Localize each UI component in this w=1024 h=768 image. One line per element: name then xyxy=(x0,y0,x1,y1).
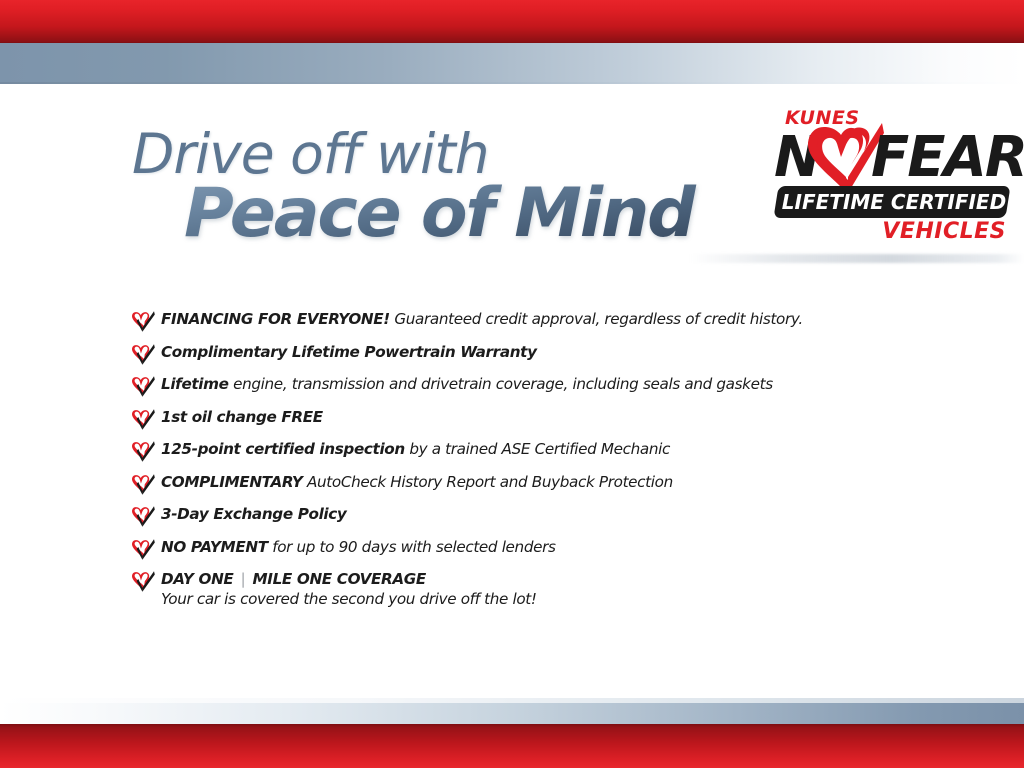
promo-poster: Drive off with Peace of Mind KUNES N FEA… xyxy=(0,0,1024,768)
header-divider xyxy=(690,254,1024,263)
feature-bold: Complimentary Lifetime Powertrain Warran… xyxy=(161,343,537,361)
feature-item: DAY ONE | MILE ONE COVERAGEYour car is c… xyxy=(132,570,932,610)
feature-item: 3-Day Exchange Policy xyxy=(132,505,932,527)
feature-text: COMPLIMENTARY AutoCheck History Report a… xyxy=(161,473,673,492)
logo-wordmark: N FEAR xyxy=(772,129,1012,191)
feature-bold-2: MILE ONE COVERAGE xyxy=(253,570,426,588)
feature-bold: 3-Day Exchange Policy xyxy=(161,505,346,523)
feature-item: FINANCING FOR EVERYONE! Guaranteed credi… xyxy=(132,310,932,332)
feature-text: 125-point certified inspection by a trai… xyxy=(161,440,670,459)
logo-certified-text: LIFETIME CERTIFIED xyxy=(780,189,1008,215)
feature-rest: for up to 90 days with selected lenders xyxy=(268,538,556,556)
feature-bold: Lifetime xyxy=(161,375,229,393)
top-red-band xyxy=(0,0,1024,43)
feature-list: FINANCING FOR EVERYONE! Guaranteed credi… xyxy=(132,310,932,621)
feature-text: 3-Day Exchange Policy xyxy=(161,505,346,524)
feature-text: Complimentary Lifetime Powertrain Warran… xyxy=(161,343,537,362)
feature-rest: Guaranteed credit approval, regardless o… xyxy=(390,310,803,328)
feature-subtext: Your car is covered the second you drive… xyxy=(161,589,537,610)
feature-bold: 1st oil change FREE xyxy=(161,408,323,426)
feature-bold: COMPLIMENTARY xyxy=(161,473,303,491)
bottom-red-band xyxy=(0,724,1024,768)
feature-bold: NO PAYMENT xyxy=(161,538,268,556)
feature-text: FINANCING FOR EVERYONE! Guaranteed credi… xyxy=(161,310,803,329)
feature-separator: | xyxy=(233,570,252,588)
heart-check-icon xyxy=(132,344,155,365)
heart-check-icon xyxy=(132,409,155,430)
heart-check-icon xyxy=(132,539,155,560)
heart-check-icon xyxy=(132,506,155,527)
kunes-no-fear-logo: KUNES N FEAR LIFETIME CERTIFIED VEHICLES xyxy=(772,107,1012,245)
heart-check-icon xyxy=(132,311,155,332)
top-gray-band xyxy=(0,43,1024,84)
feature-bold: 125-point certified inspection xyxy=(161,440,405,458)
heart-check-icon xyxy=(132,571,155,592)
logo-word-fear: FEAR xyxy=(871,129,1024,187)
heart-check-icon xyxy=(132,376,155,397)
feature-text: 1st oil change FREE xyxy=(161,408,323,427)
feature-bold: DAY ONE xyxy=(161,570,233,588)
feature-text: NO PAYMENT for up to 90 days with select… xyxy=(161,538,556,557)
heart-check-icon xyxy=(132,474,155,495)
feature-bold: FINANCING FOR EVERYONE! xyxy=(161,310,390,328)
heart-check-icon xyxy=(132,441,155,462)
feature-item: NO PAYMENT for up to 90 days with select… xyxy=(132,538,932,560)
top-gray-band-edge xyxy=(0,82,1024,84)
feature-item: 125-point certified inspection by a trai… xyxy=(132,440,932,462)
headline-line-2: Peace of Mind xyxy=(184,178,752,250)
feature-rest: engine, transmission and drivetrain cove… xyxy=(229,375,773,393)
feature-rest: by a trained ASE Certified Mechanic xyxy=(405,440,670,458)
feature-item: 1st oil change FREE xyxy=(132,408,932,430)
feature-text: DAY ONE | MILE ONE COVERAGE xyxy=(161,570,537,589)
bottom-gray-band xyxy=(0,703,1024,724)
feature-rest: AutoCheck History Report and Buyback Pro… xyxy=(303,473,673,491)
feature-item: Lifetime engine, transmission and drivet… xyxy=(132,375,932,397)
feature-text: Lifetime engine, transmission and drivet… xyxy=(161,375,773,394)
page-title: Drive off with Peace of Mind xyxy=(132,126,752,250)
feature-item: COMPLIMENTARY AutoCheck History Report a… xyxy=(132,473,932,495)
logo-vehicles-text: VEHICLES xyxy=(882,219,1006,244)
feature-item: Complimentary Lifetime Powertrain Warran… xyxy=(132,343,932,365)
